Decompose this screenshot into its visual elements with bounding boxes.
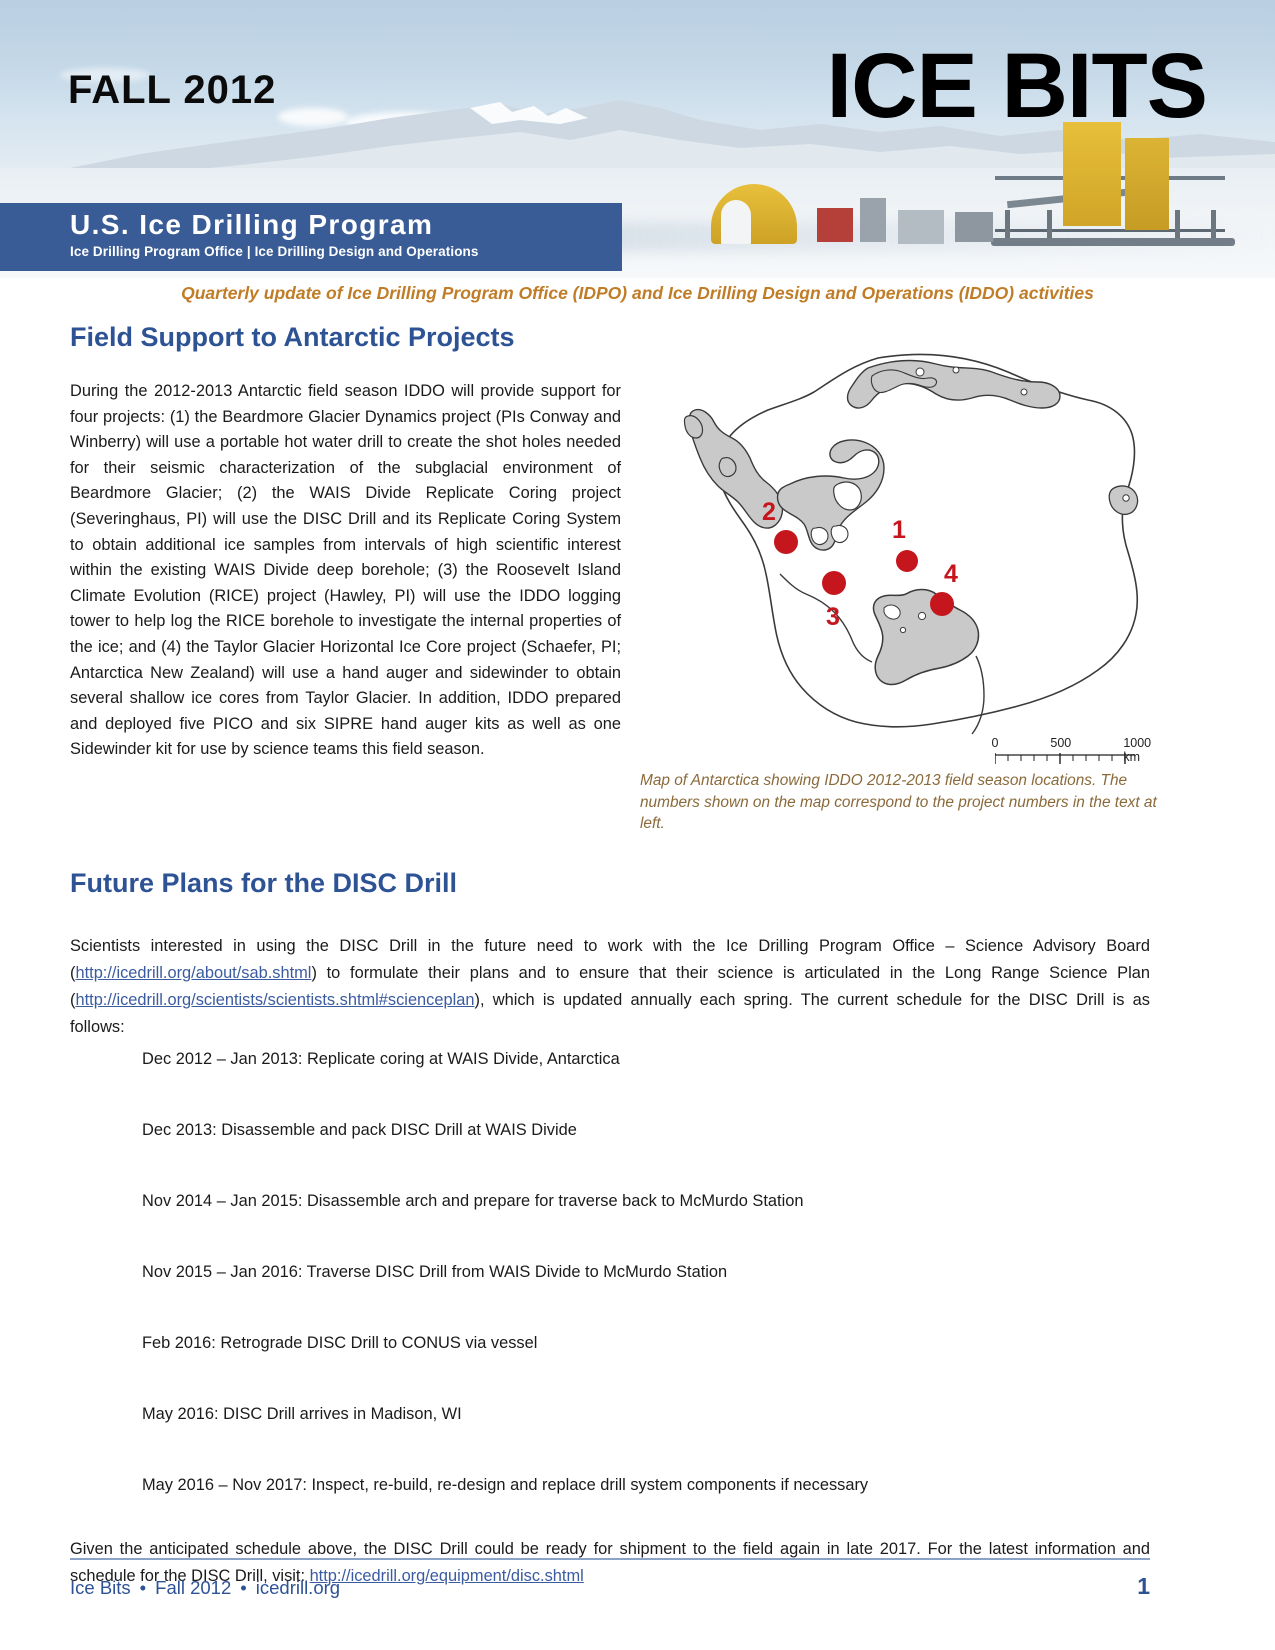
link-science-plan[interactable]: http://icedrill.org/scientists/scientist… xyxy=(75,991,474,1009)
footer-website[interactable]: icedrill.org xyxy=(256,1577,340,1598)
issue-season: FALL 2012 xyxy=(68,68,276,113)
footer-separator: • xyxy=(131,1577,155,1598)
section-heading-future-plans: Future Plans for the DISC Drill xyxy=(70,868,1150,899)
drill-tarp xyxy=(1063,122,1121,226)
footer-publication-name: Ice Bits xyxy=(70,1577,131,1598)
field-support-column: Field Support to Antarctic Projects Duri… xyxy=(70,322,621,763)
page-number: 1 xyxy=(1137,1573,1150,1600)
antarctica-map-column: 2 1 3 4 0 500 1000 km xyxy=(640,338,1160,835)
antarctica-map-icon xyxy=(640,338,1160,758)
program-banner: U.S. Ice Drilling Program Ice Drilling P… xyxy=(0,203,622,271)
tent-door xyxy=(721,200,751,244)
footer-separator: • xyxy=(231,1577,255,1598)
antarctica-map: 2 1 3 4 0 500 1000 km xyxy=(640,338,1160,758)
map-marker-label-1: 1 xyxy=(892,516,906,545)
schedule-item: May 2016 – Nov 2017: Inspect, re-build, … xyxy=(142,1473,1150,1497)
schedule-item: May 2016: DISC Drill arrives in Madison,… xyxy=(142,1402,1150,1426)
map-marker-label-2: 2 xyxy=(762,498,776,527)
tagline: Quarterly update of Ice Drilling Program… xyxy=(0,283,1275,304)
map-marker-dot-1 xyxy=(896,550,918,572)
section-heading-field-support: Field Support to Antarctic Projects xyxy=(70,322,621,353)
map-marker-dot-4 xyxy=(930,592,954,616)
map-marker-label-3: 3 xyxy=(826,603,840,632)
map-marker-dot-2 xyxy=(774,530,798,554)
program-banner-title: U.S. Ice Drilling Program xyxy=(70,210,622,241)
supply-crate xyxy=(860,198,886,242)
schedule-item: Dec 2012 – Jan 2013: Replicate coring at… xyxy=(142,1047,1150,1071)
disc-drill-schedule-list: Dec 2012 – Jan 2013: Replicate coring at… xyxy=(70,1047,1150,1497)
link-sab[interactable]: http://icedrill.org/about/sab.shtml xyxy=(75,964,311,982)
supply-crate xyxy=(955,212,993,242)
page-footer: Ice Bits•Fall 2012•icedrill.org 1 xyxy=(70,1558,1150,1600)
supply-crate xyxy=(817,208,853,242)
map-marker-label-4: 4 xyxy=(944,560,958,589)
scale-label-500: 500 xyxy=(1050,736,1071,750)
supply-crate xyxy=(898,210,944,244)
footer-issue: Fall 2012 xyxy=(155,1577,231,1598)
scale-label-0: 0 xyxy=(992,736,999,750)
future-plans-intro-paragraph: Scientists interested in using the DISC … xyxy=(70,933,1150,1041)
schedule-item: Dec 2013: Disassemble and pack DISC Dril… xyxy=(142,1118,1150,1142)
map-marker-dot-3 xyxy=(822,571,846,595)
publication-title: ICE BITS xyxy=(827,40,1207,132)
future-plans-section: Future Plans for the DISC Drill Scientis… xyxy=(70,868,1150,1590)
drill-tarp xyxy=(1125,138,1169,230)
schedule-item: Feb 2016: Retrograde DISC Drill to CONUS… xyxy=(142,1331,1150,1355)
masthead-hero: FALL 2012 ICE BITS U.S. Ice Drilling Pro… xyxy=(0,0,1275,278)
map-caption: Map of Antarctica showing IDDO 2012-2013… xyxy=(640,770,1160,835)
field-support-paragraph: During the 2012-2013 Antarctic field sea… xyxy=(70,379,621,763)
rig-skid xyxy=(991,238,1235,246)
program-banner-subtitle: Ice Drilling Program Office | Ice Drilli… xyxy=(70,244,622,259)
scale-ticks-icon xyxy=(995,753,1135,765)
schedule-item: Nov 2015 – Jan 2016: Traverse DISC Drill… xyxy=(142,1260,1150,1284)
footer-text: Ice Bits•Fall 2012•icedrill.org xyxy=(70,1577,340,1599)
schedule-item: Nov 2014 – Jan 2015: Disassemble arch an… xyxy=(142,1189,1150,1213)
map-scale-bar: 0 500 1000 km xyxy=(995,736,1135,765)
